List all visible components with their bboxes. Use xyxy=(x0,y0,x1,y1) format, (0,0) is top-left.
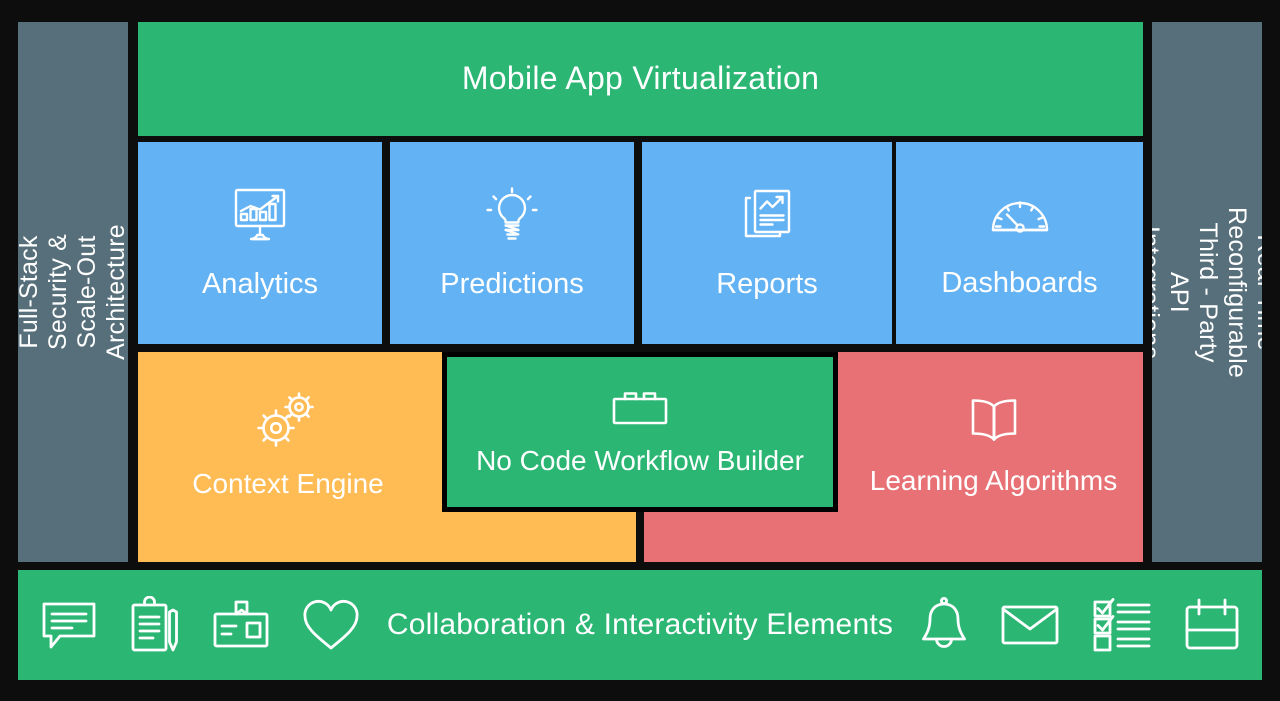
mid-card-label: Context Engine xyxy=(192,468,383,500)
gears-icon xyxy=(251,390,325,452)
rail-right-label: Real-Time Reconfigurable Third - Party A… xyxy=(1152,207,1262,378)
heart-icon[interactable] xyxy=(301,598,361,652)
footer-icons-left xyxy=(39,596,361,654)
footer-icons-right xyxy=(919,597,1241,653)
feature-card-reports[interactable]: Reports xyxy=(642,142,892,344)
feature-card-analytics[interactable]: Analytics xyxy=(138,142,382,344)
mid-label-learning-algorithms[interactable]: Learning Algorithms xyxy=(844,352,1143,538)
mid-card-label: Learning Algorithms xyxy=(870,465,1117,497)
monitor-chart-icon xyxy=(227,186,293,246)
open-book-icon xyxy=(961,393,1027,449)
envelope-icon[interactable] xyxy=(999,601,1061,649)
mid-card-label: No Code Workflow Builder xyxy=(476,445,804,477)
feature-label: Reports xyxy=(716,268,818,300)
footer-band-collaboration[interactable]: Collaboration & Interactivity Elements xyxy=(18,570,1262,680)
feature-label: Predictions xyxy=(440,268,583,300)
rail-left-security[interactable]: Full-Stack Security & Scale-Out Architec… xyxy=(18,22,128,562)
lightbulb-icon xyxy=(479,186,545,246)
footer-label: Collaboration & Interactivity Elements xyxy=(361,608,919,642)
feature-label: Dashboards xyxy=(941,267,1097,299)
bell-icon[interactable] xyxy=(919,597,969,653)
rail-left-label: Full-Stack Security & Scale-Out Architec… xyxy=(18,224,128,360)
architecture-diagram: Full-Stack Security & Scale-Out Architec… xyxy=(0,0,1280,701)
header-label: Mobile App Virtualization xyxy=(462,61,819,97)
calendar-icon[interactable] xyxy=(1183,598,1241,652)
mid-label-context-engine[interactable]: Context Engine xyxy=(138,352,438,538)
chat-bubble-icon[interactable] xyxy=(39,598,99,652)
documents-chart-icon xyxy=(734,186,800,246)
id-badge-icon[interactable] xyxy=(211,599,271,651)
feature-label: Analytics xyxy=(202,268,318,300)
clipboard-pen-icon[interactable] xyxy=(129,596,181,654)
feature-card-dashboards[interactable]: Dashboards xyxy=(896,142,1143,344)
header-band-mobile-app-virtualization[interactable]: Mobile App Virtualization xyxy=(138,22,1143,136)
rail-right-integrations[interactable]: Real-Time Reconfigurable Third - Party A… xyxy=(1152,22,1262,562)
checklist-icon[interactable] xyxy=(1091,598,1153,652)
gauge-icon xyxy=(984,187,1056,245)
feature-card-predictions[interactable]: Predictions xyxy=(390,142,634,344)
lego-brick-icon xyxy=(608,387,672,429)
mid-label-no-code-workflow-builder[interactable]: No Code Workflow Builder xyxy=(442,352,838,512)
